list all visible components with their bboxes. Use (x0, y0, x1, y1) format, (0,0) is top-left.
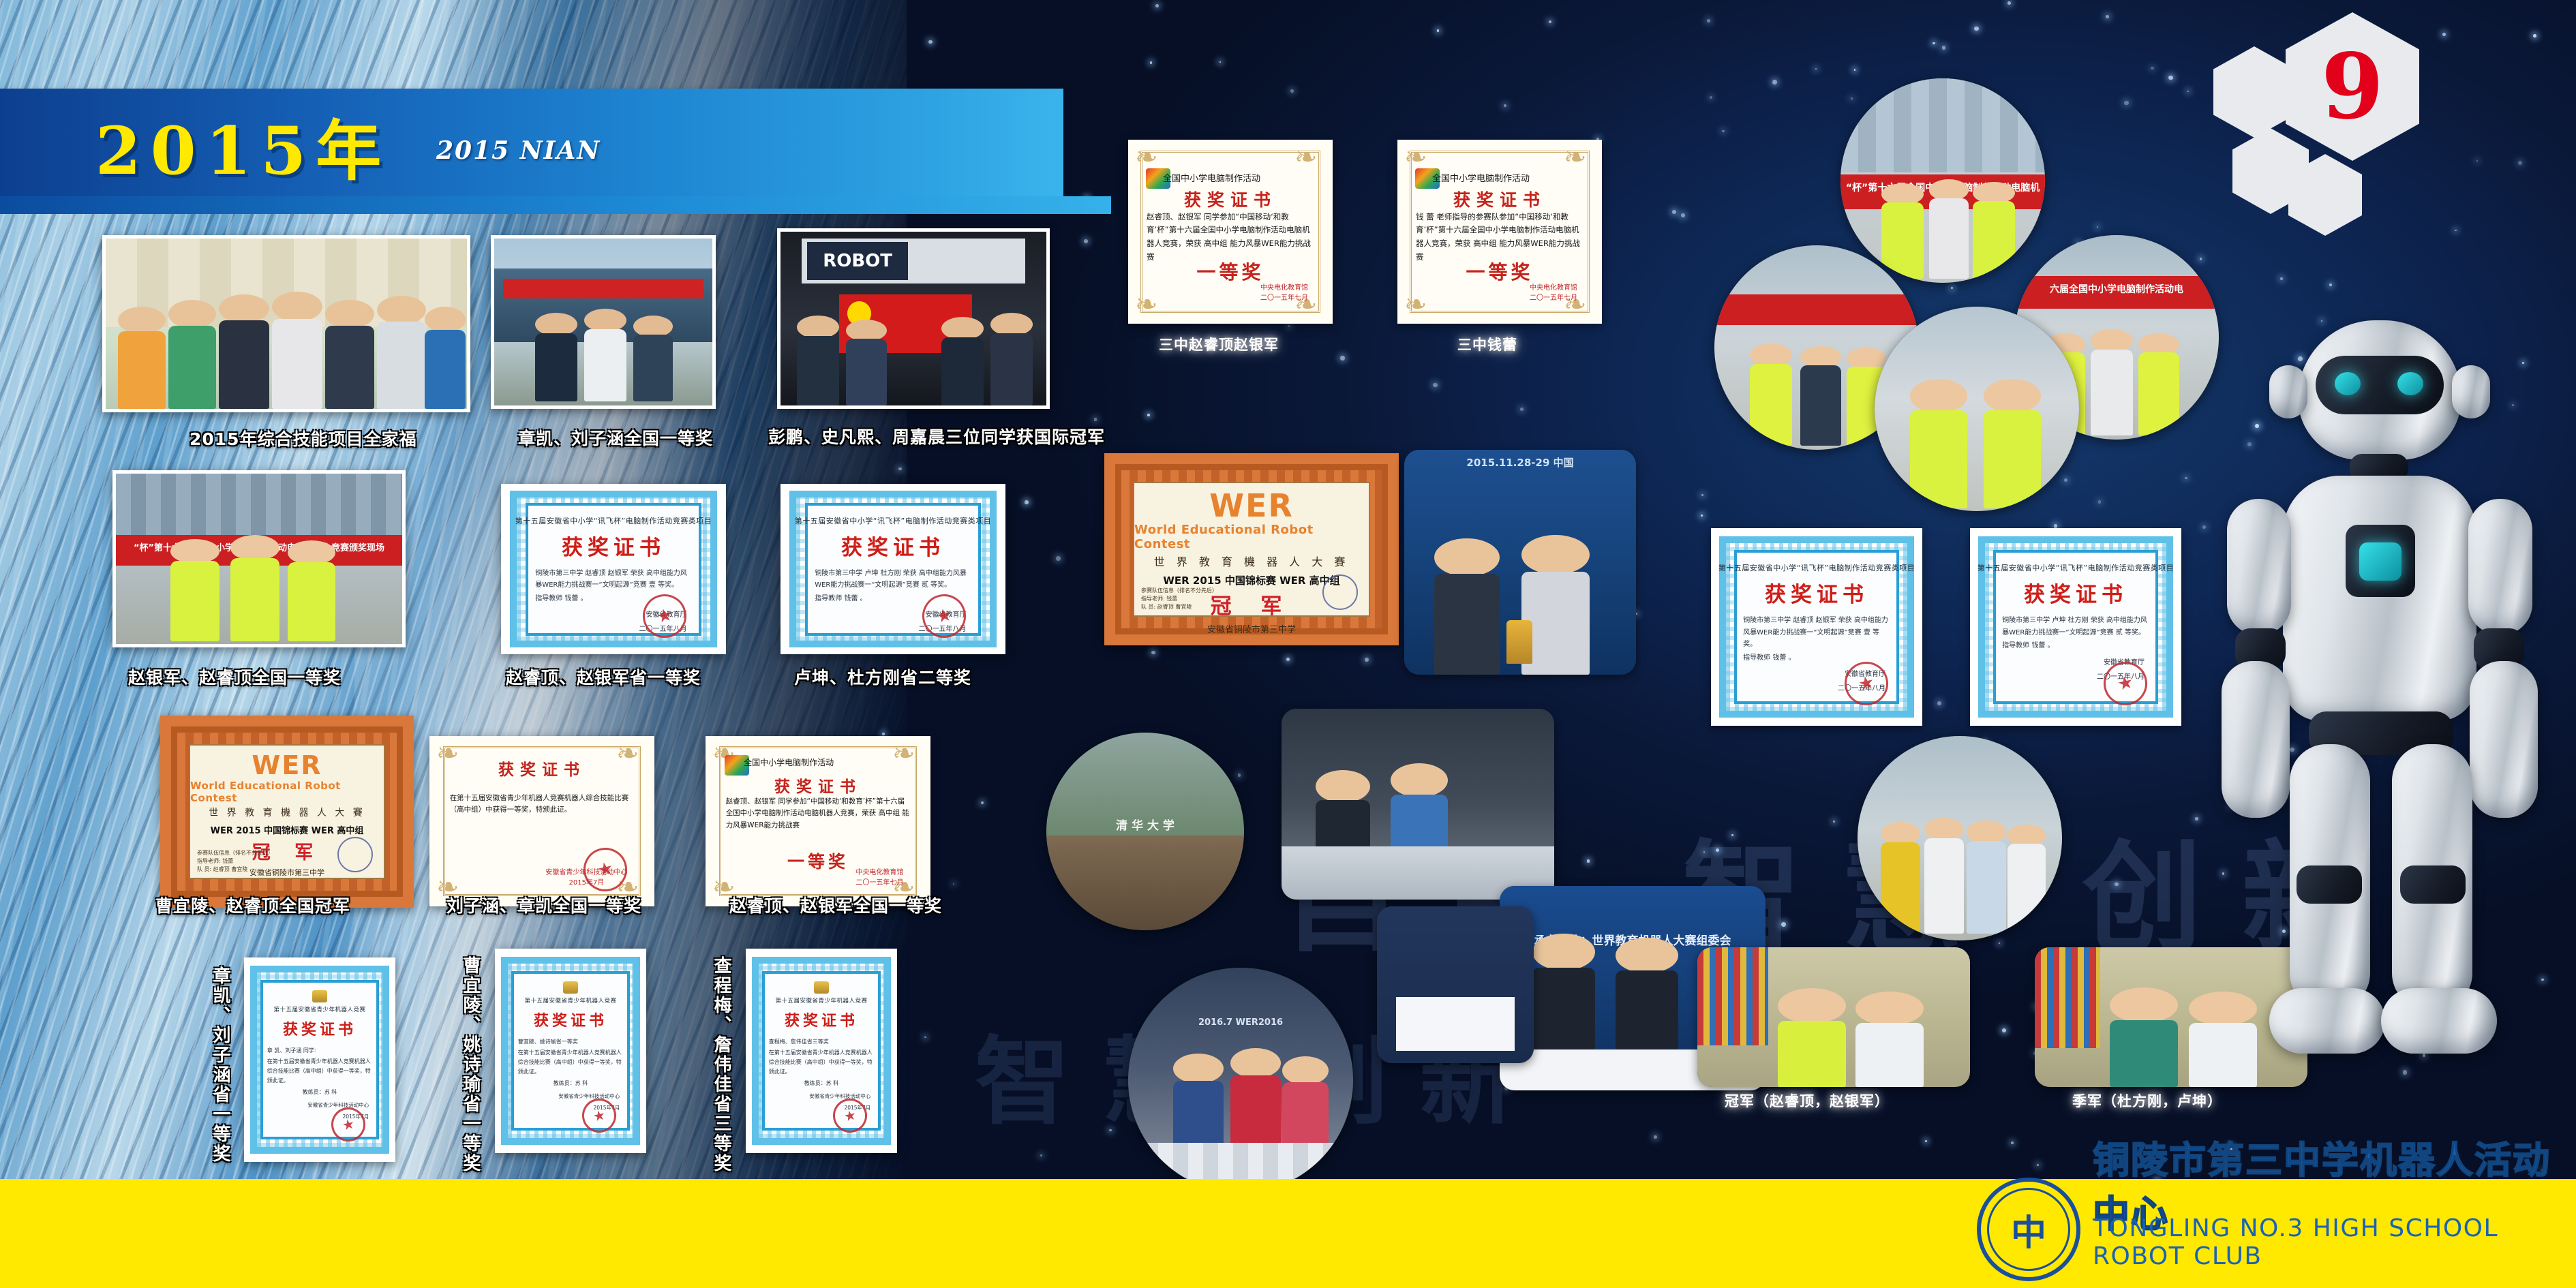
certificate-org-line: 第十五届安徽省青少年机器人竞赛 (775, 996, 867, 1005)
certificate-org-line: 全国中小学电脑制作活动 (1432, 171, 1530, 184)
caption-international-champions: 彭鹏、史凡熙、周嘉晨三位同学获国际冠军 (768, 424, 1105, 448)
photo-award-stage: “杯”第十六届全国中小学电脑制作活动电脑机器人竞赛颁奖现场 (112, 470, 406, 647)
certificate-org-line: 全国中小学电脑制作活动 (1163, 171, 1260, 184)
certificate-provincial-lu: 第十五届安徽省中小学“讯飞杯”电脑制作活动竞赛类项目 获奖证书 铜陵市第三中学 … (781, 484, 1005, 654)
caption-liuzihan-national: 刘子涵、章凯全国一等奖 (446, 893, 641, 917)
certificate-title: 获奖证书 (2024, 577, 2127, 608)
wer-team-coach: 指导老师: 钱蕾 (197, 857, 273, 865)
wer-event-line: WER 2015 中国锦标赛 WER 高中组 (1163, 573, 1339, 587)
certificate-body: 在第十五届安徽省青少年机器人竞赛机器人综合技能比赛（高中组）中获得一等奖，特颁此… (769, 1048, 874, 1077)
wer-organizer-stamp-icon (1322, 574, 1358, 610)
wer-team-info: 参赛队伍信息（排名不分先后） 指导老师: 钱蕾 队 员: 赵睿顶 曹宜陵 (1141, 587, 1217, 611)
certificate-title: 获奖证书 (706, 773, 930, 797)
certificate-date: 二〇一五年七月 (1530, 293, 1577, 303)
photo-circle-students-outdoor (1858, 736, 2062, 940)
certificate-recipient: 曹宜陵、姚诗瑜省一等奖 (518, 1037, 623, 1047)
certificate-title: 获奖证书 (1397, 187, 1602, 211)
certificate-provincial-zhao: 第十五届安徽省中小学“讯飞杯”电脑制作活动竞赛类项目 获奖证书 铜陵市第三中学 … (501, 484, 726, 654)
robot-ear-left (2269, 365, 2307, 418)
certificate-body: 铜陵市第三中学 赵睿顶 赵银军 荣获 高中组能力风暴WER能力挑战赛一“文明起源… (535, 568, 692, 592)
robot-mascot-illustration (2187, 320, 2569, 1193)
wer-team-header: 参赛队伍信息（排名不分先后） (197, 849, 273, 857)
robot-eye-right-icon (2397, 372, 2423, 395)
caption-vertical-chachengmei: 查程梅、詹伟佳省三等奖 (709, 956, 734, 1174)
certificate-wer-champion-left: WER World Educational Robot Contest 世 界 … (160, 716, 414, 908)
page-title: 2015年 (95, 98, 391, 193)
wer-team-members: 队 员: 赵睿顶 曹宜陵 (197, 865, 273, 874)
certificate-national-zhao: ❧ ❧ ❧ ❧ 全国中小学电脑制作活动 获奖证书 赵睿顶、赵银军 同学参加“中国… (1128, 140, 1333, 324)
certificate-title: 获奖证书 (562, 530, 665, 561)
certificate-issuer: 中央电化教育馆 (1530, 283, 1577, 293)
certificate-issuer: 安徽省青少年科技活动中心 (307, 1101, 369, 1109)
caption-lukun-province: 卢坤、杜方刚省二等奖 (794, 664, 971, 689)
certificate-title: 获奖证书 (841, 530, 945, 561)
certificate-title: 获奖证书 (785, 1009, 858, 1030)
photo-medal-wall-a (1697, 947, 1970, 1087)
photo-banner-text: 清 华 大 学 (1046, 816, 1244, 833)
caption-group-2015-skills: 2015年综合技能项目全家福 (190, 426, 417, 450)
wer-organizer-stamp-icon (337, 837, 373, 872)
wer-english-name: World Educational Robot Contest (190, 780, 384, 804)
certificate-body: 在第十五届安徽省青少年机器人竞赛机器人综合技能比赛（高中组）中获得一等奖，特颁此… (518, 1048, 623, 1077)
robot-eye-left-icon (2335, 372, 2361, 395)
certificate-provincial-right-b: 第十五届安徽省中小学“讯飞杯”电脑制作活动竞赛类项目 获奖证书 铜陵市第三中学 … (1970, 528, 2181, 726)
footer-school-name-en: TONGLING NO.3 HIGH SCHOOL ROBOT CLUB (2093, 1214, 2576, 1270)
wer-logo: WER (1209, 490, 1294, 521)
certificate-org-line: 第十五届安徽省中小学“讯飞杯”电脑制作活动竞赛类项目 (515, 515, 712, 526)
certificate-date: 二〇一五年七月 (855, 878, 903, 888)
certificate-title: 获奖证书 (1128, 187, 1333, 211)
photo-flag-ceremony: ROBOT (777, 228, 1050, 409)
photo-banner-text: 2016.7 WER2016 (1128, 1017, 1353, 1028)
certificate-issuer: 安徽省青少年科技活动中心 (809, 1092, 870, 1100)
caption-champion-zhao: 冠军（赵睿顶，赵银军） (1725, 1090, 1890, 1111)
certificate-provincial-right-a: 第十五届安徽省中小学“讯飞杯”电脑制作活动竞赛类项目 获奖证书 铜陵市第三中学 … (1711, 528, 1922, 726)
certificate-coach: 教练员：苏 科 (769, 1079, 874, 1088)
wer-team-header: 参赛队伍信息（排名不分先后） (1141, 587, 1217, 595)
caption-vertical-caoyiling: 曹宜陵、姚诗瑜省一等奖 (458, 956, 483, 1174)
certificate-issuer-seal: 中央电化教育馆 二〇一五年七月 (1260, 283, 1308, 303)
page-number: 9 (2286, 12, 2419, 161)
certificate-national-liu: ❧ ❧ ❧ ❧ 获奖证书 在第十五届安徽省青少年机器人竞赛机器人综合技能比赛（高… (429, 736, 654, 906)
photo-group-2015-skills (102, 235, 470, 412)
year-header-band: 2015年 2015 NIAN (0, 89, 1063, 196)
wer-panel: WER World Educational Robot Contest 世 界 … (189, 744, 385, 879)
certificate-issuer: 中央电化教育馆 (1260, 283, 1308, 293)
wer-chinese-name: 世 界 教 育 機 器 人 大 賽 (209, 806, 365, 819)
robot-arm-left (2227, 499, 2291, 635)
photo-school-entrance (491, 235, 716, 409)
photo-circle-team-d (1875, 307, 2079, 511)
emblem-icon (563, 981, 578, 994)
wer-chinese-name: 世 界 教 育 機 器 人 大 賽 (1154, 553, 1350, 569)
gold-corner-ornament-bl: ❧ (1404, 291, 1436, 322)
caption-zhangkai-liuzihan: 章凯、刘子涵全国一等奖 (518, 425, 713, 450)
hexagon-small-icon-1 (2213, 46, 2295, 138)
certificate-title: 获奖证书 (1765, 577, 1868, 608)
certificate-prize: 一等奖 (1128, 258, 1333, 285)
robot-ear-right (2452, 365, 2490, 418)
certificate-recipient: 章 凯、刘子涵 同学: (267, 1046, 372, 1056)
photo-banner-text: 六届全国中小学电脑制作活动电 (2014, 282, 2219, 296)
certificate-issuer-seal: 中央电化教育馆 二〇一五年七月 (855, 868, 903, 888)
wer-prize: 冠 军 (1211, 589, 1293, 619)
header-accent-stripe (0, 196, 1111, 214)
certificate-national-qian: ❧ ❧ ❧ ❧ 全国中小学电脑制作活动 获奖证书 钱 蕾 老师指导的参赛队参加“… (1397, 140, 1602, 324)
emblem-icon (312, 990, 327, 1002)
wer-team-info: 参赛队伍信息（排名不分先后） 指导老师: 钱蕾 队 员: 赵睿顶 曹宜陵 (197, 849, 273, 874)
certificate-body: 铜陵市第三中学 赵睿顶 赵银军 荣获 高中组能力风暴WER能力挑战赛一“文明起源… (1743, 615, 1890, 651)
exhibition-board: 自主 智慧 创新 智慧 创新 2015年 2015 NIAN 9 2015年综合… (0, 0, 2576, 1288)
wer-english-name: World Educational Robot Contest (1134, 523, 1369, 551)
photo-competition-floor: 2016.7 WER2016 (1128, 968, 1353, 1193)
certificate-body: 在第十五届安徽省青少年机器人竞赛机器人综合技能比赛（高中组）中获得一等奖，特颁此… (267, 1057, 372, 1086)
certificate-org-line: 第十五届安徽省中小学“讯飞杯”电脑制作活动竞赛类项目 (1718, 562, 1915, 573)
certificate-body: 在第十五届安徽省青少年机器人竞赛机器人综合技能比赛（高中组）中获得一等奖，特颁此… (450, 793, 635, 817)
photo-banner-text: 2015.11.28-29 中国 (1404, 455, 1636, 470)
photo-trophy-pair: 2015.11.28-29 中国 (1404, 450, 1636, 675)
page-title-pinyin: 2015 NIAN (436, 136, 601, 165)
wer-logo: WER (252, 752, 322, 778)
robot-foot-left (2269, 988, 2385, 1054)
caption-caoyiling-national: 曹宜陵、赵睿顶全国冠军 (155, 893, 350, 917)
logo-ring (1987, 1188, 2070, 1271)
certificate-org-line: 第十五届安徽省青少年机器人竞赛 (273, 1005, 365, 1013)
certificate-body: 铜陵市第三中学 卢坤 杜方刚 荣获 高中组能力风暴WER能力挑战赛一“文明起源”… (2002, 615, 2149, 639)
certificate-issuer: 中央电化教育馆 (855, 868, 903, 878)
gold-corner-ornament-tr: ❧ (1294, 144, 1326, 175)
certificate-coach: 教练员：苏 科 (518, 1079, 623, 1088)
certificate-youth-chachengmei: 第十五届安徽省青少年机器人竞赛 获奖证书 查程梅、詹伟佳省三等奖 在第十五届安徽… (746, 949, 897, 1153)
certificate-title: 获奖证书 (534, 1009, 607, 1030)
wer-school: 安徽省铜陵市第三中学 (1207, 622, 1296, 635)
caption-zhaoruiding-province: 赵睿顶、赵银军省一等奖 (506, 664, 701, 689)
robot-forearm-right (2470, 661, 2538, 818)
certificate-org-line: 第十五届安徽省中小学“讯飞杯”电脑制作活动竞赛类项目 (795, 515, 991, 526)
wer-event-line: WER 2015 中国锦标赛 WER 高中组 (211, 823, 364, 836)
certificate-national-zhao2: ❧ ❧ ❧ ❧ 全国中小学电脑制作活动 获奖证书 赵睿顶、赵银军 同学参加“中国… (706, 736, 930, 906)
emblem-icon (814, 981, 829, 994)
photo-tsinghua-university: 清 华 大 学 (1046, 733, 1244, 930)
wer-panel: WER World Educational Robot Contest 世 界 … (1133, 482, 1370, 617)
certificate-issuer-seal: 中央电化教育馆 二〇一五年七月 (1530, 283, 1577, 303)
footer-bar: 中 铜陵市第三中学机器人活动中心 TONGLING NO.3 HIGH SCHO… (0, 1179, 2576, 1288)
caption-cert-qian: 三中钱蕾 (1457, 334, 1517, 354)
caption-zhaoruiding-national: 赵睿顶、赵银军全国一等奖 (729, 893, 942, 917)
school-logo: 中 (1977, 1178, 2080, 1281)
caption-cert-zhao: 三中赵睿顶赵银军 (1159, 334, 1279, 354)
certificate-org-line: 全国中小学电脑制作活动 (744, 756, 834, 768)
certificate-body: 铜陵市第三中学 卢坤 杜方刚 荣获 高中组能力风暴WER能力挑战赛一“文明起源”… (815, 568, 971, 592)
robot-foot-right (2381, 988, 2497, 1054)
wer-team-coach: 指导老师: 钱蕾 (1141, 595, 1217, 603)
robot-torso (2283, 476, 2476, 721)
certificate-prize: 一等奖 (1397, 258, 1602, 285)
robot-forearm-left (2222, 661, 2290, 818)
certificate-org-line: 第十五届安徽省青少年机器人竞赛 (524, 996, 616, 1005)
certificate-youth-caoyiling: 第十五届安徽省青少年机器人竞赛 获奖证书 曹宜陵、姚诗瑜省一等奖 在第十五届安徽… (495, 949, 646, 1153)
certificate-recipient: 查程梅、詹伟佳省三等奖 (769, 1037, 874, 1047)
robot-chest-light-icon (2359, 542, 2401, 581)
certificate-title: 获奖证书 (429, 756, 654, 780)
caption-vertical-zhangkai: 章凯、刘子涵省一等奖 (208, 966, 233, 1164)
certificate-issuer: 安徽省青少年科技活动中心 (558, 1092, 620, 1100)
certificate-teacher: 指导教师 钱蕾 。 (2002, 640, 2149, 652)
certificate-body: 赵睿顶、赵银军 同学参加“中国移动‘和教育’杯”第十六届全国中小学电脑制作活动电… (1147, 211, 1314, 264)
certificate-youth-zhangkai: 第十五届安徽省青少年机器人竞赛 获奖证书 章 凯、刘子涵 同学: 在第十五届安徽… (244, 957, 395, 1162)
certificate-body: 赵睿顶、赵银军 同学参加“中国移动‘和教育’杯”第十六届全国中小学电脑制作活动电… (726, 796, 911, 833)
photo-certificate-holder (1377, 906, 1534, 1063)
certificate-title: 获奖证书 (283, 1017, 357, 1039)
gold-corner-ornament-tr: ❧ (1564, 144, 1595, 175)
robot-knee-right (2400, 865, 2466, 904)
robot-arm-right (2468, 499, 2532, 635)
certificate-body: 钱 蕾 老师指导的参赛队参加“中国移动‘和教育’杯”第十六届全国中小学电脑制作活… (1416, 211, 1584, 264)
robot-knee-left (2297, 865, 2362, 904)
certificate-org-line: 第十五届安徽省中小学“讯飞杯”电脑制作活动竞赛类项目 (1978, 562, 2174, 573)
photo-workshop (1282, 709, 1554, 900)
gold-corner-ornament-bl: ❧ (1135, 291, 1166, 322)
wer-team-members: 队 员: 赵睿顶 曹宜陵 (1141, 603, 1217, 611)
hexagon-cluster: 9 (2133, 0, 2515, 252)
certificate-date: 二〇一五年七月 (1260, 293, 1308, 303)
caption-zhaoyinjun-national: 赵银军、赵睿顶全国一等奖 (128, 664, 341, 689)
certificate-coach: 教练员：苏 科 (267, 1088, 372, 1097)
gold-corner-ornament-tr: ❧ (892, 740, 924, 771)
certificate-wer-champion-center: WER World Educational Robot Contest 世 界 … (1104, 453, 1399, 645)
